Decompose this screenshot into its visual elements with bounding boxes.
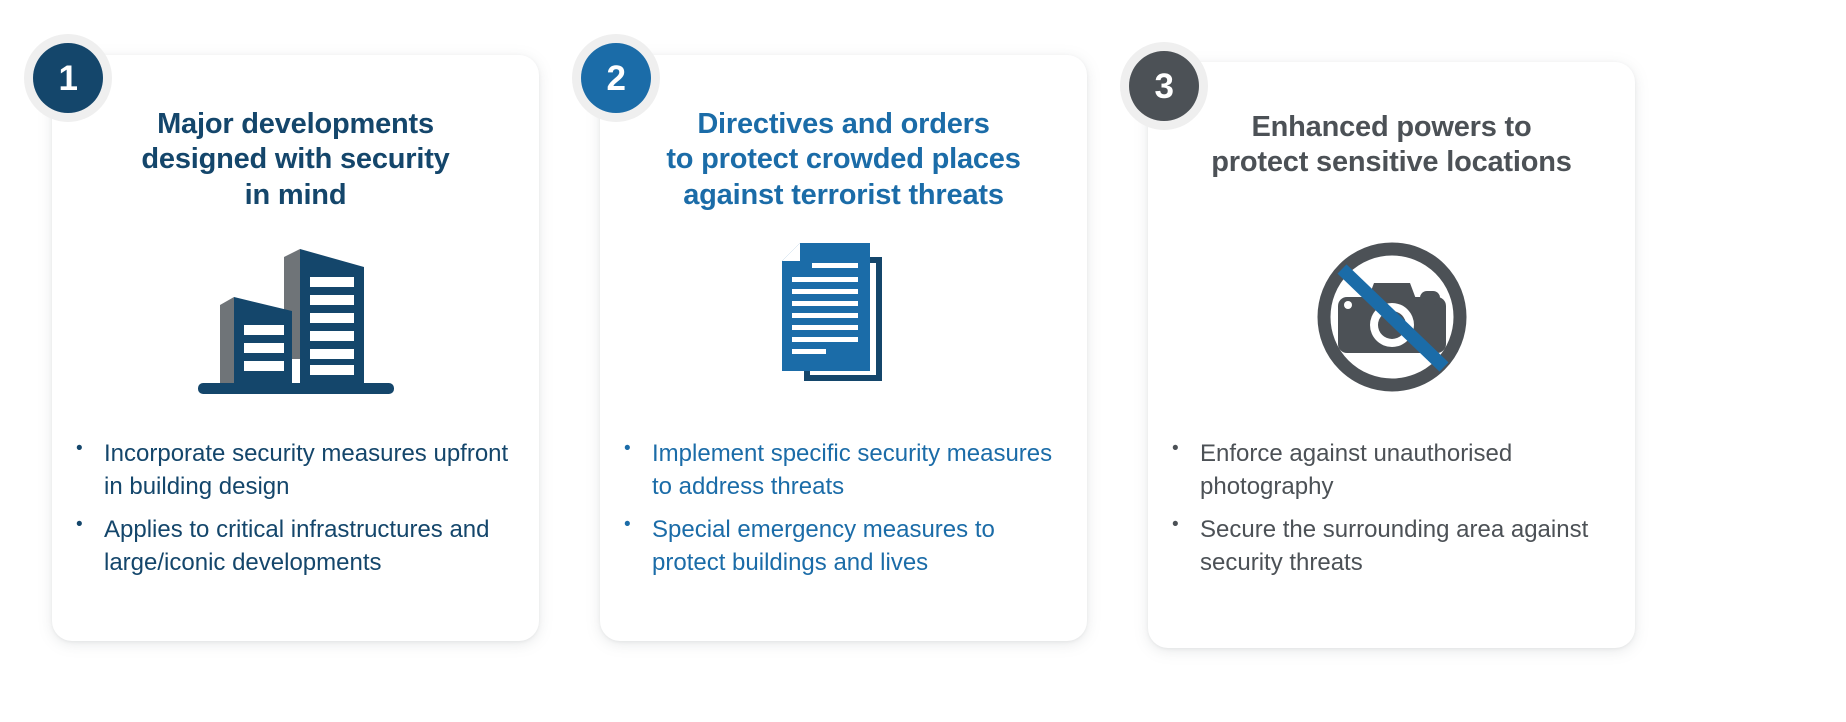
card-3-icon-wrap <box>1148 232 1635 402</box>
step-badge-3-number: 3 <box>1129 51 1199 121</box>
card-2-heading-line-1: Directives and orders <box>618 107 1069 142</box>
step-badge-1-number: 1 <box>33 43 103 113</box>
documents-icon <box>774 235 914 395</box>
list-item: Implement specific security measures to … <box>610 437 1069 503</box>
card-2-heading: Directives and orders to protect crowded… <box>600 107 1087 213</box>
card-3: Enhanced powers to protect sensitive loc… <box>1148 62 1635 648</box>
step-badge-2: 2 <box>572 34 660 122</box>
list-item: Enforce against unauthorised photography <box>1158 437 1617 503</box>
card-2-heading-line-2: to protect crowded places <box>618 142 1069 177</box>
no-photography-icon <box>1312 237 1472 397</box>
list-item: Applies to critical infrastructures and … <box>62 513 521 579</box>
card-1-icon-wrap <box>52 235 539 395</box>
card-3-heading-line-1: Enhanced powers to <box>1166 110 1617 145</box>
card-1-heading-line-3: in mind <box>70 178 521 213</box>
buildings-icon <box>196 235 396 395</box>
list-item: Special emergency measures to protect bu… <box>610 513 1069 579</box>
card-1-heading-line-1: Major developments <box>70 107 521 142</box>
step-badge-3: 3 <box>1120 42 1208 130</box>
card-3-bullet-list: Enforce against unauthorised photography… <box>1158 437 1617 589</box>
card-2-icon-wrap <box>600 235 1087 395</box>
card-1-heading: Major developments designed with securit… <box>52 107 539 213</box>
card-3-heading: Enhanced powers to protect sensitive loc… <box>1148 110 1635 181</box>
step-badge-2-number: 2 <box>581 43 651 113</box>
list-item: Secure the surrounding area against secu… <box>1158 513 1617 579</box>
card-1-bullet-list: Incorporate security measures upfront in… <box>62 437 521 589</box>
card-2: Directives and orders to protect crowded… <box>600 55 1087 641</box>
card-2-bullet-list: Implement specific security measures to … <box>610 437 1069 589</box>
card-1-heading-line-2: designed with security <box>70 142 521 177</box>
list-item: Incorporate security measures upfront in… <box>62 437 521 503</box>
step-badge-1: 1 <box>24 34 112 122</box>
infographic-board: Major developments designed with securit… <box>0 0 1846 722</box>
card-1: Major developments designed with securit… <box>52 55 539 641</box>
card-3-heading-line-2: protect sensitive locations <box>1166 145 1617 180</box>
card-2-heading-line-3: against terrorist threats <box>618 178 1069 213</box>
